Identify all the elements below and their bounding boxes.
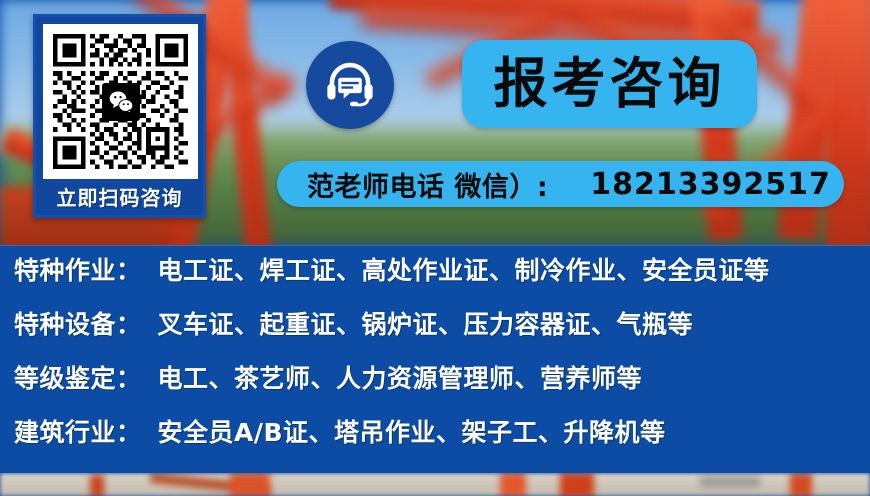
crane-beam [825, 0, 870, 248]
ground-object [700, 477, 760, 487]
service-row-value: 电工证、焊工证、高处作业证、制冷作业、安全员证等 [158, 251, 770, 287]
ground-object [790, 473, 812, 496]
contact-phone-number[interactable]: 18213392517 [590, 167, 831, 202]
service-row-grade-certification: 等级鉴定： 电工、茶艺师、人力资源管理师、营养师等 [14, 359, 860, 413]
promotional-poster: 立即扫码咨询 报考咨询 范老师电话 微信）: 18213392517 特种作业：… [0, 0, 870, 496]
service-row-label: 特种作业： [14, 251, 142, 287]
wechat-icon [102, 83, 140, 121]
page-title: 报考咨询 [494, 57, 726, 111]
service-row-special-equipment: 特种设备： 叉车证、起重证、锅炉证、压力容器证、气瓶等 [14, 305, 860, 359]
title-banner: 报考咨询 [462, 40, 757, 128]
qr-caption: 立即扫码咨询 [36, 182, 203, 211]
contact-banner[interactable]: 范老师电话 微信）: 18213392517 [277, 161, 844, 207]
ground-object [90, 475, 104, 496]
qr-code-card[interactable]: 立即扫码咨询 [33, 14, 206, 218]
bottom-photo-strip [0, 473, 870, 496]
service-row-label: 等级鉴定： [14, 359, 142, 395]
services-panel: 特种作业： 电工证、焊工证、高处作业证、制冷作业、安全员证等 特种设备： 叉车证… [0, 245, 870, 473]
qr-code-white-area [43, 24, 198, 179]
ground-object [560, 473, 594, 496]
service-row-value: 叉车证、起重证、锅炉证、压力容器证、气瓶等 [158, 305, 694, 341]
ground-object [230, 473, 270, 496]
service-row-value: 电工、茶艺师、人力资源管理师、营养师等 [158, 359, 643, 395]
headset-support-icon [306, 41, 394, 129]
service-row-label: 特种设备： [14, 305, 142, 341]
services-list: 特种作业： 电工证、焊工证、高处作业证、制冷作业、安全员证等 特种设备： 叉车证… [14, 251, 860, 467]
service-row-special-operations: 特种作业： 电工证、焊工证、高处作业证、制冷作业、安全员证等 [14, 251, 860, 305]
service-row-value: 安全员A/B证、塔吊作业、架子工、升降机等 [158, 413, 666, 449]
service-row-construction-industry: 建筑行业： 安全员A/B证、塔吊作业、架子工、升降机等 [14, 413, 860, 467]
ground-object [500, 473, 526, 496]
contact-label: 范老师电话 微信）: [307, 165, 548, 204]
service-row-label: 建筑行业： [14, 413, 142, 449]
